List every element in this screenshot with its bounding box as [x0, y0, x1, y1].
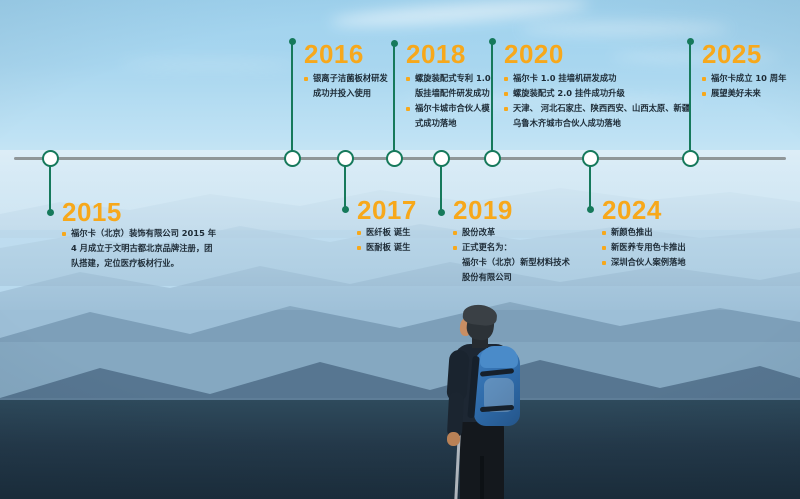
milestone-bullet: 展望美好未来 [702, 87, 786, 100]
milestone-stem-2016 [291, 41, 294, 158]
milestone-details-2017: 医纤板 诞生医耐板 诞生 [357, 226, 410, 256]
milestone-stem-dot-2015 [47, 209, 54, 216]
milestone-stem-2020 [491, 41, 494, 158]
timeline-node-2018[interactable] [386, 150, 403, 167]
milestone-stem-dot-2019 [438, 209, 445, 216]
milestone-bullet: 成功并投入使用 [304, 87, 388, 100]
year-label-2024: 2024 [602, 197, 662, 223]
milestone-bullet: 福尔卡（北京）新型材料技术 [453, 256, 570, 269]
milestone-bullet: 螺旋装配式专利 1.0 [406, 72, 491, 85]
milestone-bullet: 乌鲁木齐城市合伙人成功落地 [504, 117, 690, 130]
year-label-2018: 2018 [406, 41, 466, 67]
milestone-details-2024: 新颜色推出新医养专用色卡推出深圳合伙人案例落地 [602, 226, 686, 271]
milestone-stem-dot-2018 [391, 40, 398, 47]
milestone-bullet: 队搭建，定位医疗板材行业。 [62, 257, 216, 270]
milestone-bullet: 银离子洁菌板材研发 [304, 72, 388, 85]
timeline-node-2016[interactable] [284, 150, 301, 167]
year-label-2025: 2025 [702, 41, 762, 67]
year-label-2015: 2015 [62, 199, 122, 225]
milestone-bullet: 股份改革 [453, 226, 570, 239]
milestone-bullet: 深圳合伙人案例落地 [602, 256, 686, 269]
timeline-node-2015[interactable] [42, 150, 59, 167]
milestone-stem-2025 [689, 41, 692, 158]
milestone-bullet: 福尔卡城市合伙人模 [406, 102, 491, 115]
milestone-bullet: 新颜色推出 [602, 226, 686, 239]
timeline-node-2024[interactable] [582, 150, 599, 167]
timeline-node-2020[interactable] [484, 150, 501, 167]
milestone-stem-dot-2017 [342, 206, 349, 213]
hiker-leg-split [480, 456, 484, 499]
milestone-details-2015: 福尔卡（北京）装饰有限公司 2015 年4 月成立于文明古都北京品牌注册，团队搭… [62, 227, 216, 272]
milestone-details-2020: 福尔卡 1.0 挂墙机研发成功螺旋装配式 2.0 挂件成功升级天津、 河北石家庄… [504, 72, 690, 132]
milestone-details-2025: 福尔卡成立 10 周年展望美好未来 [702, 72, 786, 102]
hiker-figure [432, 306, 552, 499]
milestone-stem-2018 [393, 43, 396, 158]
milestone-stem-dot-2024 [587, 206, 594, 213]
milestone-bullet: 福尔卡成立 10 周年 [702, 72, 786, 85]
milestone-bullet: 式成功落地 [406, 117, 491, 130]
milestone-bullet: 正式更名为： [453, 241, 570, 254]
milestone-bullet: 新医养专用色卡推出 [602, 241, 686, 254]
milestone-bullet: 螺旋装配式 2.0 挂件成功升级 [504, 87, 690, 100]
milestone-stem-dot-2025 [687, 38, 694, 45]
timeline-node-2019[interactable] [433, 150, 450, 167]
milestone-bullet: 医耐板 诞生 [357, 241, 410, 254]
milestone-details-2019: 股份改革正式更名为：福尔卡（北京）新型材料技术股份有限公司 [453, 226, 570, 286]
infographic-canvas: 2015福尔卡（北京）装饰有限公司 2015 年4 月成立于文明古都北京品牌注册… [0, 0, 800, 499]
milestone-bullet: 4 月成立于文明古都北京品牌注册，团 [62, 242, 216, 255]
year-label-2017: 2017 [357, 197, 417, 223]
backpack-lid [480, 346, 518, 368]
timeline-node-2017[interactable] [337, 150, 354, 167]
milestone-stem-dot-2016 [289, 38, 296, 45]
milestone-bullet: 福尔卡（北京）装饰有限公司 2015 年 [62, 227, 216, 240]
milestone-stem-dot-2020 [489, 38, 496, 45]
milestone-bullet: 医纤板 诞生 [357, 226, 410, 239]
timeline-node-2025[interactable] [682, 150, 699, 167]
milestone-bullet: 天津、 河北石家庄、陕西西安、山西太原、新疆 [504, 102, 690, 115]
milestone-details-2018: 螺旋装配式专利 1.0版挂墙配件研发成功福尔卡城市合伙人模式成功落地 [406, 72, 491, 132]
hiker-hand [447, 432, 460, 446]
milestone-details-2016: 银离子洁菌板材研发成功并投入使用 [304, 72, 388, 102]
year-label-2016: 2016 [304, 41, 364, 67]
milestone-bullet: 版挂墙配件研发成功 [406, 87, 491, 100]
year-label-2019: 2019 [453, 197, 513, 223]
milestone-bullet: 股份有限公司 [453, 271, 570, 284]
year-label-2020: 2020 [504, 41, 564, 67]
milestone-bullet: 福尔卡 1.0 挂墙机研发成功 [504, 72, 690, 85]
